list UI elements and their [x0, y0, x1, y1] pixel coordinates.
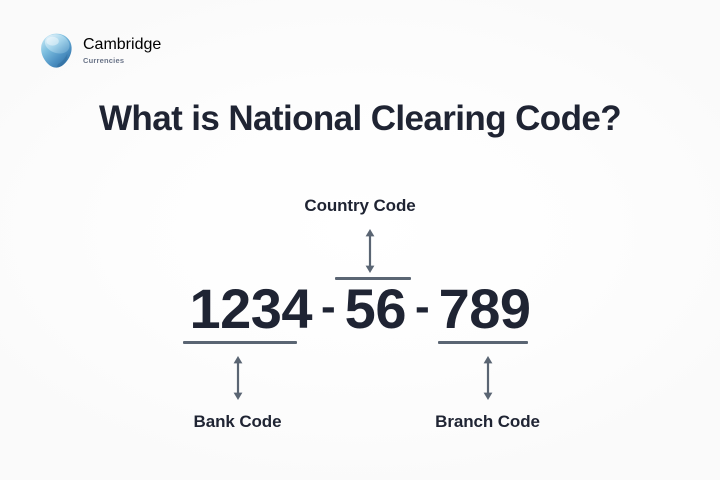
segment-rule-branch-code — [438, 341, 528, 344]
clearing-code-display: 1234 - 56 - 789 — [0, 278, 720, 340]
double-headed-vertical-arrow-icon-bank — [228, 355, 248, 401]
brand-subtitle: Currencies — [83, 57, 161, 65]
brand-wordmark: Cambridge Currencies — [83, 37, 161, 65]
code-segment-bank: 1234 — [189, 281, 312, 337]
cambridge-blob-logo-icon — [38, 31, 74, 71]
code-segment-branch: 789 — [439, 281, 531, 337]
label-country-code: Country Code — [0, 196, 720, 216]
page-title: What is National Clearing Code? — [0, 99, 720, 139]
double-headed-vertical-arrow-icon-country — [360, 228, 380, 274]
label-branch-code: Branch Code — [405, 412, 570, 432]
national-clearing-code-infographic: Cambridge Currencies What is National Cl… — [0, 0, 720, 480]
brand-name: Cambridge — [83, 37, 161, 53]
segment-rule-bank-code — [183, 341, 297, 344]
segment-rule-country-code — [335, 277, 411, 280]
code-segment-country: 56 — [345, 281, 406, 337]
double-headed-vertical-arrow-icon-branch — [478, 355, 498, 401]
brand-logo: Cambridge Currencies — [38, 31, 161, 71]
code-separator-2: - — [415, 285, 430, 333]
label-bank-code: Bank Code — [160, 412, 315, 432]
code-separator-1: - — [321, 285, 336, 333]
